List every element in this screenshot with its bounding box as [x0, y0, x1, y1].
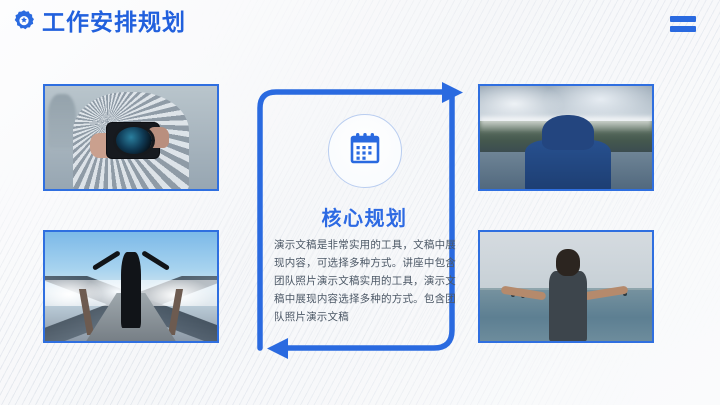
- slide-canvas: 工作安排规划 戴灰色针织连帽衫的人在雪中手持相机拍照 张开双臂站: [0, 0, 720, 405]
- photo-top-right[interactable]: 穿蓝色连帽外套的人背对镜头面朝雾中的湖与山: [478, 84, 654, 191]
- menu-icon[interactable]: [670, 16, 696, 32]
- photo-bottom-right[interactable]: 张开双臂面朝大海的男子背影: [478, 230, 654, 343]
- man-head: [556, 249, 580, 275]
- calendar-icon-circle: [328, 114, 402, 188]
- camera-lens: [116, 127, 152, 154]
- slide-header: 工作安排规划: [0, 0, 720, 48]
- page-title: 工作安排规划: [42, 6, 186, 38]
- card-heading: 核心规划: [262, 202, 467, 231]
- gear-icon: [11, 9, 37, 35]
- photo-top-left-image: [45, 86, 217, 189]
- man-torso: [549, 271, 587, 341]
- blue-hood: [542, 115, 594, 150]
- photo-top-right-image: [480, 86, 652, 189]
- photo-top-left[interactable]: 戴灰色针织连帽衫的人在雪中手持相机拍照: [43, 84, 219, 191]
- card-body-text: 演示文稿是非常实用的工具，文稿中展现内容，可选择多种方式。讲座中包含团队照片演示…: [274, 236, 456, 326]
- snow-tree: [48, 94, 76, 148]
- menu-bar-2: [670, 26, 696, 32]
- calendar-icon: [347, 131, 383, 172]
- person-arm-left: [92, 250, 121, 271]
- photo-bottom-left-image: [45, 232, 217, 341]
- photo-bottom-left[interactable]: 张开双臂站在云海之上山顶观景栈道的人: [43, 230, 219, 343]
- center-card: 核心规划 演示文稿是非常实用的工具，文稿中展现内容，可选择多种方式。讲座中包含团…: [262, 96, 467, 346]
- menu-bar-1: [670, 16, 696, 22]
- person-silhouette: [121, 252, 142, 328]
- person-arm-right: [141, 250, 170, 271]
- photo-bottom-right-image: [480, 232, 652, 341]
